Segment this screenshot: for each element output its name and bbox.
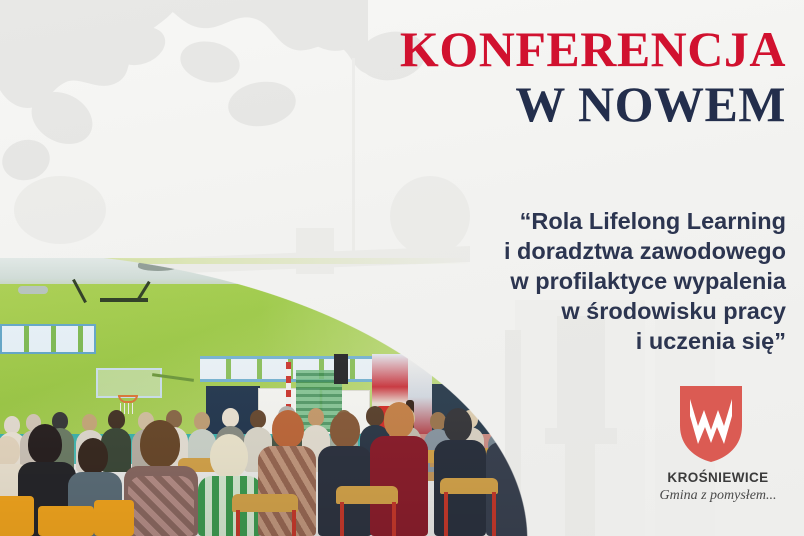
subtitle-line-5: i uczenia się”: [166, 326, 786, 356]
poster-subtitle: “Rola Lifelong Learning i doradztwa zawo…: [166, 206, 786, 356]
subtitle-line-2: i doradztwa zawodowego: [166, 236, 786, 266]
subtitle-line-1: “Rola Lifelong Learning: [166, 206, 786, 236]
headline-line-1: KONFERENCJA: [186, 22, 786, 76]
logo-municipality-name: KROŚNIEWICE: [648, 470, 788, 485]
subtitle-line-4: w środowisku pracy: [166, 296, 786, 326]
krosniewice-coat-of-arms-icon: [680, 386, 742, 462]
subtitle-line-3: w profilaktyce wypalenia: [166, 266, 786, 296]
krosniewice-logo: KROŚNIEWICE Gmina z pomysłem...: [648, 386, 788, 520]
logo-tagline: Gmina z pomysłem...: [648, 488, 788, 504]
headline-line-2: W NOWEM: [186, 76, 786, 132]
poster-headline: KONFERENCJA W NOWEM: [186, 22, 786, 132]
conference-poster: KONFERENCJA W NOWEM “Rola Lifelong Learn…: [0, 0, 804, 536]
